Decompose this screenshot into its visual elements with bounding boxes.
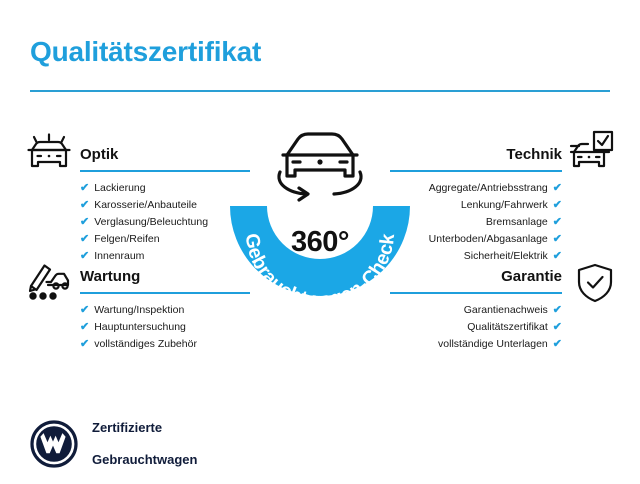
check-icon: ✔: [80, 214, 89, 231]
list-item: Aggregate/Antriebsstrang ✔: [390, 180, 562, 197]
footer-logo: Zertifizierte Gebrauchtwagen: [30, 404, 197, 484]
list-item: Qualitätszertifikat ✔: [390, 319, 562, 336]
list-item: ✔ Lackierung: [80, 180, 250, 197]
check-icon: ✔: [80, 248, 89, 265]
section-wartung: Wartung ✔ Wartung/Inspektion ✔ Hauptunte…: [80, 268, 250, 353]
list-item-label: vollständiges Zubehör: [94, 336, 197, 353]
footer-logo-text: Zertifizierte Gebrauchtwagen: [92, 404, 197, 484]
car-shine-icon: [26, 132, 72, 174]
footer-line-2: Gebrauchtwagen: [92, 452, 197, 468]
section-garantie-header: Garantie: [390, 268, 562, 294]
section-garantie-divider: [390, 292, 562, 294]
section-garantie-list: Garantienachweis ✔ Qualitätszertifikat ✔…: [390, 302, 562, 353]
check-icon: ✔: [80, 197, 89, 214]
list-item-label: Qualitätszertifikat: [467, 319, 548, 336]
check-icon: ✔: [553, 214, 562, 231]
list-item-label: Garantienachweis: [464, 302, 548, 319]
list-item-label: Hauptuntersuchung: [94, 319, 186, 336]
list-item-label: Wartung/Inspektion: [94, 302, 184, 319]
list-item-label: Aggregate/Antriebsstrang: [429, 180, 548, 197]
footer-line-1: Zertifizierte: [92, 420, 197, 436]
list-item-label: vollständige Unterlagen: [438, 336, 548, 353]
section-technik: Technik Aggregate/Antriebsstrang ✔ Lenku…: [390, 146, 562, 265]
list-item: vollständige Unterlagen ✔: [390, 336, 562, 353]
section-optik-divider: [80, 170, 250, 172]
list-item-label: Innenraum: [94, 248, 144, 265]
list-item-label: Unterboden/Abgasanlage: [429, 231, 548, 248]
list-item: ✔ Hauptuntersuchung: [80, 319, 250, 336]
list-item-label: Lenkung/Fahrwerk: [461, 197, 548, 214]
list-item: Garantienachweis ✔: [390, 302, 562, 319]
check-icon: ✔: [80, 180, 89, 197]
list-item: ✔ Wartung/Inspektion: [80, 302, 250, 319]
check-icon: ✔: [553, 231, 562, 248]
volkswagen-logo: [30, 420, 78, 468]
section-technik-header: Technik: [390, 146, 562, 172]
list-item-label: Sicherheit/Elektrik: [464, 248, 548, 265]
section-garantie-title: Garantie: [390, 268, 562, 286]
check-icon: ✔: [553, 180, 562, 197]
check-icon: ✔: [553, 319, 562, 336]
check-icon: ✔: [80, 336, 89, 353]
list-item: ✔ vollständiges Zubehör: [80, 336, 250, 353]
section-wartung-list: ✔ Wartung/Inspektion ✔ Hauptuntersuchung…: [80, 302, 250, 353]
list-item-label: Bremsanlage: [486, 214, 548, 231]
list-item: ✔ Karosserie/Anbauteile: [80, 197, 250, 214]
section-wartung-title: Wartung: [80, 268, 250, 286]
list-item: Unterboden/Abgasanlage ✔: [390, 231, 562, 248]
section-technik-list: Aggregate/Antriebsstrang ✔ Lenkung/Fahrw…: [390, 180, 562, 265]
check-icon: ✔: [80, 319, 89, 336]
list-item-label: Lackierung: [94, 180, 145, 197]
section-optik-title: Optik: [80, 146, 250, 164]
list-item-label: Karosserie/Anbauteile: [94, 197, 197, 214]
car-checkbox-icon: [568, 130, 614, 172]
list-item: ✔ Verglasung/Beleuchtung: [80, 214, 250, 231]
list-item: ✔ Felgen/Reifen: [80, 231, 250, 248]
list-item-label: Verglasung/Beleuchtung: [94, 214, 208, 231]
list-item: ✔ Innenraum: [80, 248, 250, 265]
pencil-car-checklist-icon: [26, 260, 72, 302]
list-item-label: Felgen/Reifen: [94, 231, 159, 248]
certification-badge: Gebrauchtwagen-Check 360°: [228, 122, 412, 318]
section-technik-divider: [390, 170, 562, 172]
check-icon: ✔: [553, 248, 562, 265]
section-optik-list: ✔ Lackierung ✔ Karosserie/Anbauteile ✔ V…: [80, 180, 250, 265]
section-technik-title: Technik: [390, 146, 562, 164]
list-item: Bremsanlage ✔: [390, 214, 562, 231]
check-icon: ✔: [553, 336, 562, 353]
list-item: Sicherheit/Elektrik ✔: [390, 248, 562, 265]
check-icon: ✔: [80, 231, 89, 248]
shield-check-icon: [572, 262, 618, 304]
check-icon: ✔: [553, 302, 562, 319]
section-wartung-header: Wartung: [80, 268, 250, 294]
section-garantie: Garantie Garantienachweis ✔ Qualitätszer…: [390, 268, 562, 353]
badge-degrees-label: 360°: [228, 226, 412, 259]
page-title: Qualitätszertifikat: [30, 36, 261, 68]
section-wartung-divider: [80, 292, 250, 294]
list-item: Lenkung/Fahrwerk ✔: [390, 197, 562, 214]
title-divider: [30, 90, 610, 92]
section-optik-header: Optik: [80, 146, 250, 172]
car-rotation-icon: [279, 134, 361, 200]
section-optik: Optik ✔ Lackierung ✔ Karosserie/Anbautei…: [80, 146, 250, 265]
check-icon: ✔: [80, 302, 89, 319]
check-icon: ✔: [553, 197, 562, 214]
